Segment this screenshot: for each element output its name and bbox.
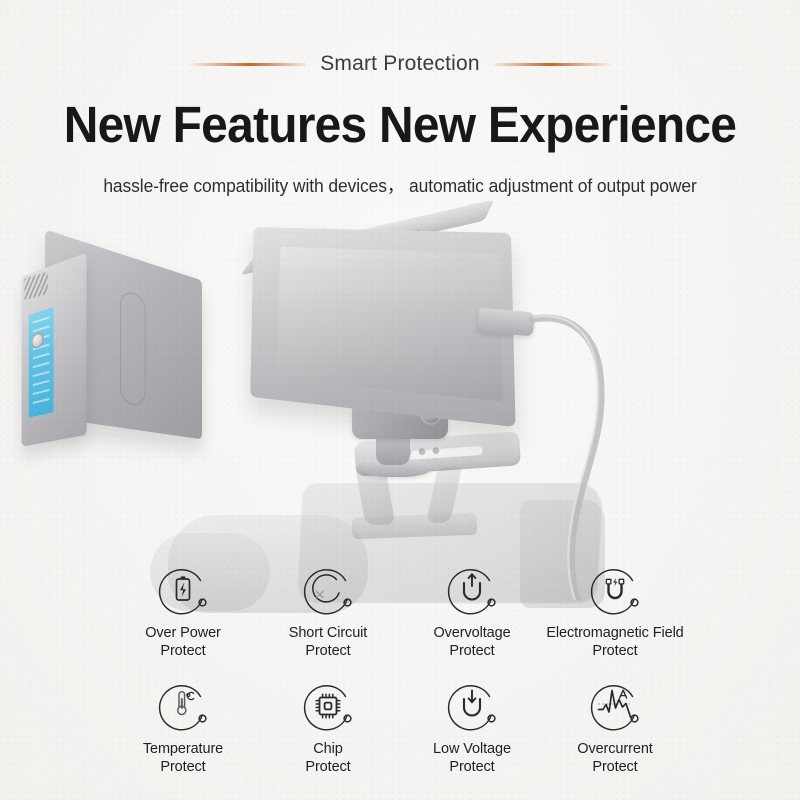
battery-bolt-icon xyxy=(153,560,213,620)
feature-row-1: Over Power Protect Short Circuit xyxy=(0,560,800,676)
product-image xyxy=(0,215,800,600)
eyebrow-label: Smart Protection xyxy=(320,52,480,76)
protection-features-grid: Over Power Protect Short Circuit xyxy=(0,560,800,792)
feature-label: Overcurrent Protect xyxy=(540,740,690,776)
feature-over-power[interactable]: Over Power Protect xyxy=(108,560,258,660)
feature-label: Short Circuit Protect xyxy=(253,624,403,660)
short-circuit-icon xyxy=(298,560,358,620)
eyebrow-row: Smart Protection xyxy=(0,52,800,76)
feature-label: Electromagnetic Field Protect xyxy=(540,624,690,660)
feature-label: Temperature Protect xyxy=(108,740,258,776)
power-plug xyxy=(477,308,535,337)
feature-label: Over Power Protect xyxy=(108,624,258,660)
monitor-back-panel xyxy=(278,247,503,402)
battery-label-strip xyxy=(29,307,54,418)
feature-chip[interactable]: Chip Protect xyxy=(253,676,403,776)
page-subtitle: hassle-free compatibility with devices， … xyxy=(12,172,788,198)
feature-label: Overvoltage Protect xyxy=(397,624,547,660)
magnet-bolt-icon xyxy=(585,560,645,620)
feature-low-voltage[interactable]: Low Voltage Protect xyxy=(397,676,547,776)
voltage-up-icon xyxy=(442,560,502,620)
battery-slot-groove xyxy=(120,290,145,407)
feature-row-2: Temperature Protect xyxy=(0,676,800,792)
feature-label: Low Voltage Protect xyxy=(397,740,547,776)
voltage-down-icon xyxy=(442,676,502,736)
feature-overcurrent[interactable]: Overcurrent Protect xyxy=(540,676,690,776)
promo-page: Smart Protection New Features New Experi… xyxy=(0,0,800,800)
thermometer-icon xyxy=(153,676,213,736)
waveform-amp-icon xyxy=(585,676,645,736)
page-title: New Features New Experience xyxy=(24,96,776,154)
feature-electromagnetic-field[interactable]: Electromagnetic Field Protect xyxy=(540,560,690,660)
divider-line-left xyxy=(188,63,306,66)
feature-overvoltage[interactable]: Overvoltage Protect xyxy=(397,560,547,660)
feature-short-circuit[interactable]: Short Circuit Protect xyxy=(253,560,403,660)
feature-temperature[interactable]: Temperature Protect xyxy=(108,676,258,776)
chip-icon xyxy=(298,676,358,736)
divider-line-right xyxy=(494,63,612,66)
feature-label: Chip Protect xyxy=(253,740,403,776)
